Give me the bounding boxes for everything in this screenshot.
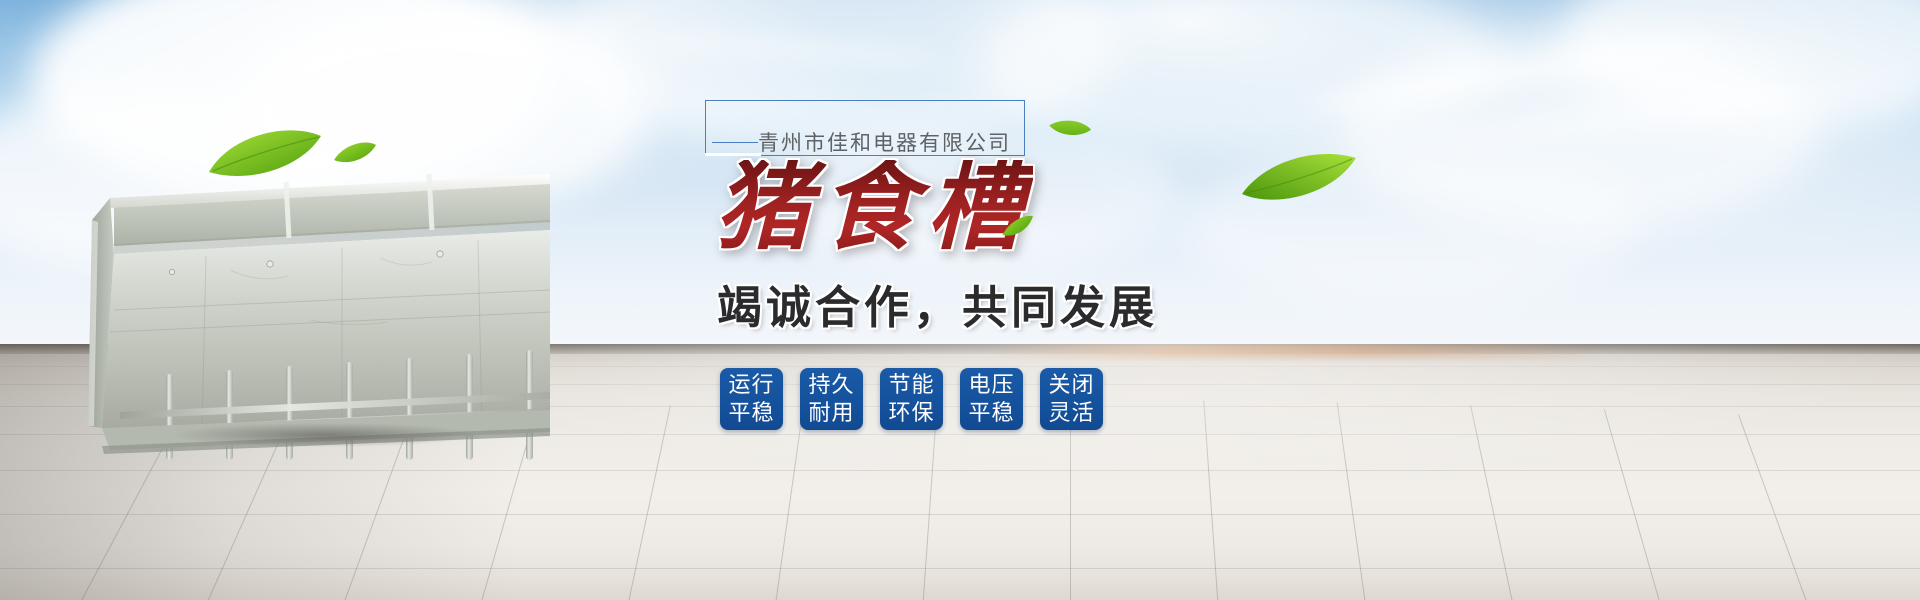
company-name: 青州市佳和电器有限公司 (758, 127, 1011, 157)
horizon-glow (980, 344, 1600, 358)
leaf-icon (332, 142, 378, 164)
company-name-box: 青州市佳和电器有限公司 (705, 100, 1025, 156)
badge-line2: 平稳 (728, 399, 774, 427)
product-image (80, 160, 550, 460)
badge-line2: 平稳 (968, 399, 1014, 427)
badge-line2: 环保 (888, 399, 934, 427)
feature-badge[interactable]: 电压 平稳 (960, 368, 1023, 430)
badge-line1: 节能 (888, 371, 934, 399)
feature-badge[interactable]: 持久 耐用 (800, 368, 863, 430)
page-title: 猪食槽 (715, 160, 1033, 256)
feature-badge[interactable]: 关闭 灵活 (1040, 368, 1103, 430)
steel-trough-illustration (80, 160, 550, 460)
badge-line1: 电压 (968, 371, 1014, 399)
feature-badge[interactable]: 节能 环保 (880, 368, 943, 430)
badge-line1: 关闭 (1048, 371, 1094, 399)
accent-dash (712, 142, 758, 143)
badge-line1: 持久 (808, 371, 854, 399)
badge-line1: 运行 (728, 371, 774, 399)
leaf-icon (205, 128, 325, 182)
feature-badge-list: 运行 平稳 持久 耐用 节能 环保 电压 平稳 关闭 灵活 (720, 368, 1103, 430)
leaf-icon (1240, 148, 1360, 206)
feature-badge[interactable]: 运行 平稳 (720, 368, 783, 430)
banner-stage: 青州市佳和电器有限公司 猪食槽 竭诚合作，共同发展 运行 平稳 持久 耐用 节能… (0, 0, 1920, 600)
subtitle-slogan: 竭诚合作，共同发展 (717, 285, 1158, 330)
product-shadow (110, 418, 540, 452)
badge-line2: 耐用 (808, 399, 854, 427)
badge-line2: 灵活 (1048, 399, 1094, 427)
